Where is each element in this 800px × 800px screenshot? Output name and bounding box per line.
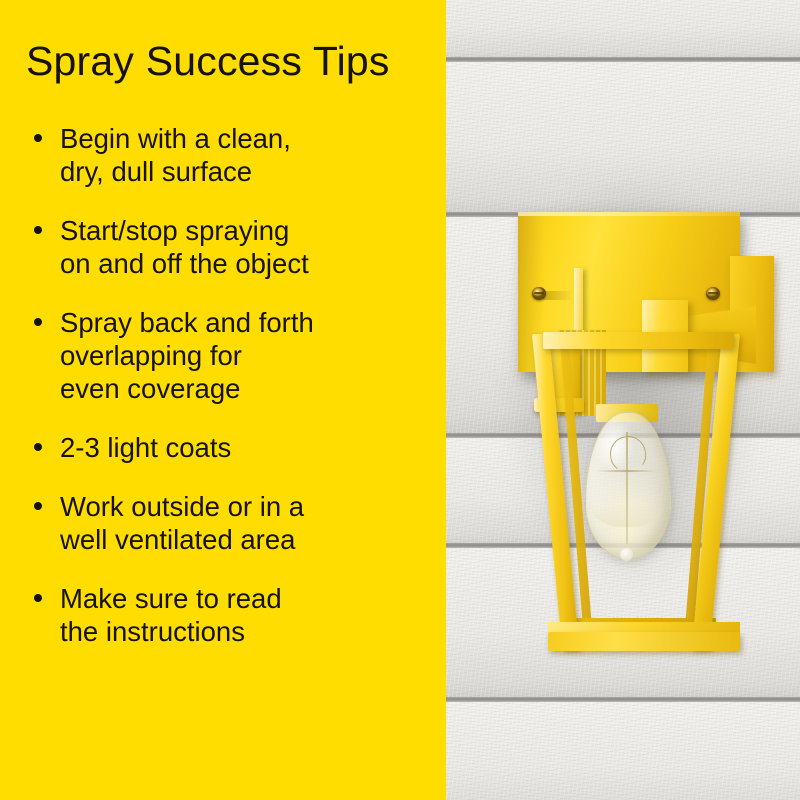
tips-panel: Spray Success Tips Begin with a clean, d… xyxy=(0,0,446,800)
tip-text: Make sure to read the instructions xyxy=(60,582,438,648)
lantern-cage xyxy=(532,332,800,658)
list-item: Make sure to read the instructions xyxy=(26,582,438,648)
tip-text: 2-3 light coats xyxy=(60,431,438,464)
cage-rail-top xyxy=(543,332,734,349)
tip-text: Begin with a clean, dry, dull surface xyxy=(60,122,438,188)
siding-board xyxy=(446,702,800,800)
screw-shadow xyxy=(543,291,573,300)
list-item: Start/stop spraying on and off the objec… xyxy=(26,214,438,280)
tip-text: Start/stop spraying on and off the objec… xyxy=(60,214,438,280)
bullet-icon xyxy=(34,443,42,451)
list-item: Spray back and forth overlapping for eve… xyxy=(26,306,438,405)
siding-texture xyxy=(446,702,800,800)
infographic-canvas: Spray Success Tips Begin with a clean, d… xyxy=(0,0,800,800)
siding-board xyxy=(446,0,800,62)
tip-text: Spray back and forth overlapping for eve… xyxy=(60,306,438,405)
bullet-icon xyxy=(34,594,42,602)
backplate-highlight xyxy=(518,212,740,216)
list-item: 2-3 light coats xyxy=(26,431,438,464)
mounting-screw-left xyxy=(532,287,546,300)
product-photo xyxy=(446,0,800,800)
tip-text: Work outside or in a well ventilated are… xyxy=(60,490,438,556)
bullet-icon xyxy=(34,226,42,234)
list-item: Begin with a clean, dry, dull surface xyxy=(26,122,438,188)
bullet-icon xyxy=(34,318,42,326)
cage-rail-bottom xyxy=(548,632,740,651)
siding-board xyxy=(446,62,800,217)
page-title: Spray Success Tips xyxy=(26,38,438,85)
bullet-icon xyxy=(34,134,42,142)
bullet-icon xyxy=(34,502,42,510)
mounting-screw-right xyxy=(706,287,720,300)
tips-list: Begin with a clean, dry, dull surface St… xyxy=(26,122,438,674)
siding-texture xyxy=(446,62,800,217)
siding-texture xyxy=(446,0,800,62)
list-item: Work outside or in a well ventilated are… xyxy=(26,490,438,556)
